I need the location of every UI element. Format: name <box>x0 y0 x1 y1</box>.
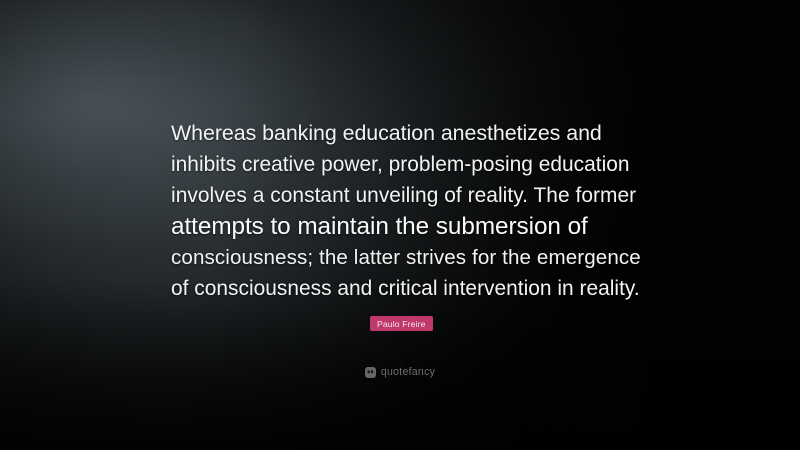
quote-line: inhibits creative power, problem-posing … <box>171 149 630 180</box>
quote-mark-icon <box>365 367 376 378</box>
quote-text-block: Whereas banking education anesthetizes a… <box>171 118 630 304</box>
watermark-brand: quotefancy <box>381 366 435 378</box>
quote-line: of consciousness and critical interventi… <box>171 273 630 304</box>
quote-line: Whereas banking education anesthetizes a… <box>171 118 630 149</box>
quote-wallpaper: Whereas banking education anesthetizes a… <box>0 0 800 450</box>
content-layer: Whereas banking education anesthetizes a… <box>0 0 800 450</box>
watermark[interactable]: quotefancy <box>0 366 800 378</box>
quote-line: attempts to maintain the submersion of <box>171 211 630 242</box>
author-name: Paulo Freire <box>377 319 426 329</box>
quote-line: involves a constant unveiling of reality… <box>171 180 630 211</box>
author-badge[interactable]: Paulo Freire <box>370 316 433 331</box>
quote-line: consciousness; the latter strives for th… <box>171 242 630 273</box>
